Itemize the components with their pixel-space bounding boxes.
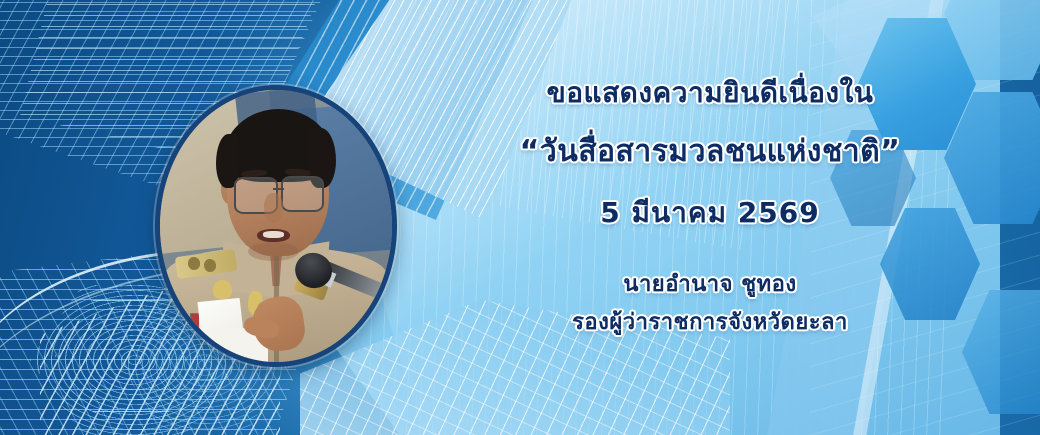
- portrait-photo: [155, 85, 397, 367]
- portrait-eyeglass-bridge: [273, 188, 285, 190]
- headline-line-1: ขอแสดงความยินดีเนื่องใน: [430, 78, 990, 109]
- headline-line-2: “วันสื่อสารมวลชนแห่งชาติ”: [430, 135, 990, 168]
- person-name: นายอำนาจ ชูทอง: [430, 273, 990, 297]
- portrait-nose: [264, 193, 283, 223]
- portrait-teeth: [263, 231, 284, 238]
- person-title: รองผู้ว่าราชการจังหวัดยะลา: [430, 311, 990, 335]
- message-text-block: ขอแสดงความยินดีเนื่องใน “วันสื่อสารมวลชน…: [430, 78, 990, 335]
- event-date: 5 มีนาคม 2569: [430, 198, 990, 229]
- portrait-chest-badge: [213, 280, 232, 299]
- portrait-eyeglass-right: [281, 176, 324, 213]
- congratulations-banner: ขอแสดงความยินดีเนื่องใน “วันสื่อสารมวลชน…: [0, 0, 1040, 435]
- portrait-epaulette-insignia-1: [187, 256, 200, 270]
